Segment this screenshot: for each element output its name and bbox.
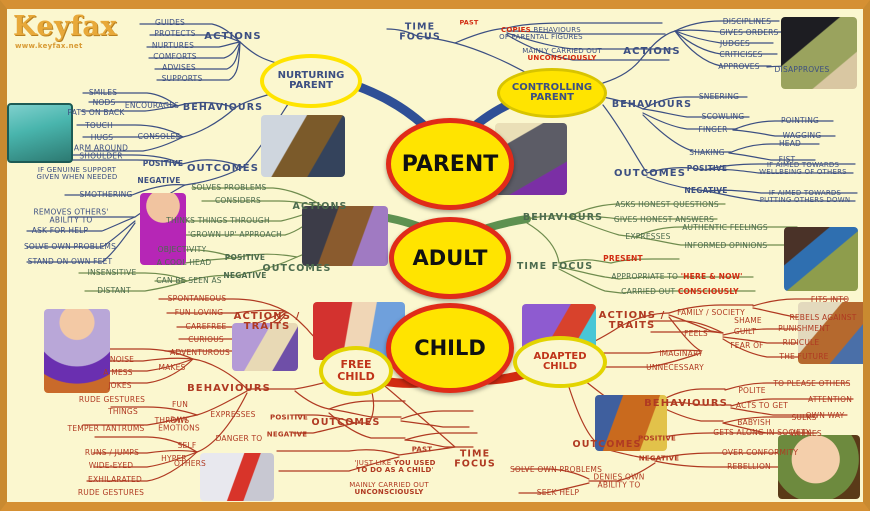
np-outcomes-positive: POSITIVE	[143, 160, 184, 168]
np-behaviour-hugs: HUGS	[91, 134, 114, 142]
adult-action-grown-up-approach: 'GROWN-UP' APPROACH	[188, 231, 282, 239]
adult-timefocus-here-now: APPROPRIATE TO 'HERE & NOW'	[611, 273, 742, 281]
illustration-family	[7, 103, 73, 163]
adult-actions-header: ACTIONS	[293, 202, 348, 212]
np-behaviour-consoles: CONSOLES	[138, 133, 181, 141]
ac-behaviour-acts-to-get: ACTS TO GET	[736, 402, 788, 410]
cp-behaviour-pointing: POINTING	[781, 117, 819, 125]
fc-behaviour-runs-jumps: RUNS / JUMPS	[85, 449, 139, 457]
adult-timefocus-present: PRESENT	[603, 255, 643, 263]
fc-behaviour-makes: MAKES	[158, 364, 185, 372]
core-node-child[interactable]: CHILD	[386, 303, 514, 393]
np-outcomes-negative: NEGATIVE	[137, 177, 180, 185]
adult-timefocus-header: TIME FOCUS	[517, 262, 593, 272]
adult-action-solves-problems: SOLVES PROBLEMS	[192, 184, 267, 192]
subnode-controlling-parent[interactable]: CONTROLLINGPARENT	[497, 68, 607, 118]
illustration-office-pair	[261, 115, 345, 177]
cp-timefocus-copies: COPIES BEHAVIOURSOF PARENTAL FIGURES	[499, 27, 583, 41]
adult-action-considers: CONSIDERS	[215, 197, 261, 205]
cp-action-criticises: CRITICISES	[719, 51, 762, 59]
subnode-nurturing-parent-label: NURTURINGPARENT	[278, 71, 345, 92]
fc-behaviour-expresses: EXPRESSES	[210, 411, 255, 419]
np-behaviour-pats-on-back: PATS ON BACK	[68, 109, 125, 117]
cp-behaviour-finger: FINGER	[698, 126, 727, 134]
fc-trait-adventurous: ADVENTUROUS	[170, 349, 230, 357]
fc-behaviour-others: OTHERS	[174, 460, 206, 468]
np-outcome-ask-for-help: ASK FOR HELP	[32, 227, 89, 235]
cp-outcome-wellbeing: IF AIMED TOWARDSWELLBEING OF OTHERS	[759, 162, 847, 176]
adult-outcome-objectivity: OBJECTIVITY	[158, 246, 207, 254]
adult-timefocus-consciously: CARRIED OUT CONSCIOUSLY	[621, 288, 739, 296]
adult-outcome-distant: DISTANT	[97, 287, 130, 295]
ac-trait-ridicule: RIDICULE	[783, 339, 820, 347]
ac-outcome-denies-own-ability: DENIES OWNABILITY TO	[593, 473, 644, 488]
np-behaviours-header: BEHAVIOURS	[183, 103, 263, 113]
cp-behaviour-head: HEAD	[779, 140, 801, 148]
illustration-man-surfboard	[200, 453, 274, 501]
ac-trait-rebels-against: REBELS AGAINST	[789, 314, 856, 322]
cp-timefocus-past: PAST	[459, 20, 478, 27]
np-actions-header: ACTIONS	[204, 32, 261, 42]
illustration-sulking-face	[778, 435, 860, 499]
adult-behaviour-informed-opinions: INFORMED OPINIONS	[685, 242, 768, 250]
illustration-woman-purple	[140, 193, 186, 265]
cp-outcomes-positive: POSITIVE	[687, 165, 728, 173]
ac-trait-fits-into: FITS INTO	[811, 296, 849, 304]
fc-behaviour-temper-tantrums: TEMPER TANTRUMS	[68, 425, 145, 433]
ac-trait-punishment: PUNISHMENT	[778, 325, 830, 333]
ac-outcomes-negative: NEGATIVE	[639, 455, 679, 462]
cp-outcomes-negative: NEGATIVE	[684, 187, 727, 195]
np-behaviour-nods: NODS	[93, 99, 116, 107]
illustration-father-son	[781, 17, 857, 89]
ac-behaviours-header: BEHAVIOURS	[644, 399, 728, 409]
fc-behaviour-exhilarated: EXHILARATED	[88, 476, 142, 484]
ac-outcome-seek-help: SEEK HELP	[537, 489, 579, 497]
np-outcome-stand-on-own-feet: STAND ON OWN FEET	[28, 258, 113, 266]
adult-outcomes-positive: POSITIVE	[225, 254, 266, 262]
ac-outcome-gets-along: GETS ALONG IN SOCIETY	[713, 429, 810, 437]
fc-actions-traits-header: ACTIONS /TRAITS	[234, 312, 301, 332]
ac-outcomes-header: OUTCOMES	[573, 440, 642, 450]
adult-behaviours-header: BEHAVIOURS	[523, 213, 603, 223]
fc-trait-fun-loving: FUN-LOVING	[175, 309, 224, 317]
cp-outcomes-header: OUTCOMES	[614, 169, 686, 179]
cp-timefocus-header: TIMEFOCUS	[399, 22, 441, 41]
cp-action-judges: JUDGES	[720, 40, 750, 48]
brand-url: www.keyfax.net	[15, 42, 83, 50]
ac-behaviour-to-please-others: TO PLEASE OTHERS	[773, 380, 850, 388]
cp-timefocus-unconsciously: MAINLY CARRIED OUTUNCONSCIOUSLY	[522, 48, 602, 62]
fc-behaviour-rude-gestures-2: RUDE GESTURES	[78, 489, 144, 497]
subnode-adapted-child-label: ADAPTEDCHILD	[533, 352, 586, 373]
fc-timefocus-unconsciously: MAINLY CARRIED OUTUNCONSCIOUSLY	[349, 482, 429, 496]
fc-trait-carefree: CAREFREE	[186, 323, 227, 331]
adult-action-thinks-things-through: THINKS THINGS THROUGH	[166, 217, 270, 225]
ac-behaviour-babyish: BABYISH	[737, 419, 771, 427]
ac-behaviour-sulks: SULKS	[791, 414, 816, 422]
subnode-adapted-child[interactable]: ADAPTEDCHILD	[513, 336, 607, 388]
subnode-controlling-parent-label: CONTROLLINGPARENT	[512, 83, 592, 104]
brand-logo: Keyfax	[13, 11, 117, 42]
ac-outcome-solve-own-problems: SOLVE OWN PROBLEMS	[510, 466, 602, 474]
ac-trait-unnecessary: UNNECESSARY	[646, 364, 704, 372]
fc-behaviour-fun: FUN	[172, 401, 188, 409]
adult-outcome-insensitive: INSENSITIVE	[88, 269, 137, 277]
core-node-adult[interactable]: ADULT	[389, 217, 511, 299]
fc-behaviour-things: THINGS	[108, 408, 138, 416]
ac-outcomes-positive: POSITIVE	[638, 435, 676, 442]
fc-behaviour-jokes: JOKES	[108, 382, 132, 390]
adult-outcomes-header: OUTCOMES	[263, 264, 332, 274]
ac-behaviour-attention: ATTENTION	[808, 396, 852, 404]
ac-trait-feels: FEELS	[684, 330, 708, 338]
fc-behaviour-danger-to: DANGER TO	[216, 435, 263, 443]
cp-action-disapproves: DISAPPROVES	[775, 66, 830, 74]
ac-trait-shame: SHAME	[734, 317, 762, 325]
cp-behaviours-header: BEHAVIOURS	[612, 100, 692, 110]
fc-outcomes-positive: POSITIVE	[270, 414, 308, 421]
ac-trait-imaginary: IMAGINARY	[659, 350, 703, 358]
subnode-free-child[interactable]: FREECHILD	[319, 346, 393, 396]
np-action-nurtures: NURTURES	[152, 42, 194, 50]
fc-behaviour-raw-emotions: RAWEMOTIONS	[158, 416, 200, 431]
np-action-protects: PROTECTS	[154, 30, 195, 38]
ac-outcome-over-conformity: OVER CONFORMITY	[722, 449, 798, 457]
np-behaviour-touch: TOUCH	[85, 122, 113, 130]
subnode-nurturing-parent[interactable]: NURTURINGPARENT	[260, 54, 362, 108]
np-behaviour-encourages: ENCOURAGES	[125, 102, 179, 110]
adult-behaviour-expresses: EXPRESSES	[625, 233, 670, 241]
illustration-woman-phone	[784, 227, 858, 291]
subnode-free-child-label: FREECHILD	[337, 359, 375, 382]
np-outcome-solve-own-problems: SOLVE OWN PROBLEMS	[24, 243, 116, 251]
cp-behaviour-sneering: SNEERING	[699, 93, 739, 101]
fc-timefocus-just-like: 'JUST LIKE YOU USEDTO DO AS A CHILD'	[354, 460, 435, 474]
fc-behaviours-header: BEHAVIOURS	[187, 384, 271, 394]
cp-behaviour-scowling: SCOWLING	[702, 113, 745, 121]
fc-timefocus-past: PAST	[412, 446, 433, 453]
cp-action-disciplines: DISCIPLINES	[723, 18, 771, 26]
np-outcome-genuine-support: IF GENUINE SUPPORTGIVEN WHEN NEEDED	[37, 167, 118, 181]
fc-behaviour-a-mess: A MESS	[103, 369, 132, 377]
ac-trait-fear-of: FEAR OF	[730, 342, 763, 350]
np-outcomes-header: OUTCOMES	[187, 164, 259, 174]
ac-trait-guilt: GUILT	[734, 328, 756, 336]
np-action-supports: SUPPORTS	[162, 75, 203, 83]
cp-action-gives-orders: GIVES ORDERS	[719, 29, 778, 37]
fc-behaviour-wide-eyed: WIDE-EYED	[89, 462, 133, 470]
fc-timefocus-header: TIMEFOCUS	[454, 449, 496, 468]
cp-behaviour-shaking: SHAKING	[689, 149, 724, 157]
adult-behaviour-asks-honest-questions: ASKS HONEST QUESTIONS	[615, 201, 719, 209]
mindmap-canvas: Keyfax www.keyfax.net PARENT ADULT CHILD…	[0, 0, 870, 511]
np-behaviour-arm-around-shoulder: ARM AROUNDSHOULDER	[74, 144, 128, 159]
illustration-desk-meeting	[302, 206, 388, 266]
adult-behaviour-authentic-feelings: AUTHENTIC FEELINGS	[682, 224, 768, 232]
ac-outcome-rebellion: REBELLION	[727, 463, 771, 471]
adult-outcome-cool-head: A COOL HEAD	[157, 259, 212, 267]
fc-behaviour-self: SELF	[178, 442, 197, 450]
ac-actions-traits-header: ACTIONS /TRAITS	[599, 311, 666, 331]
fc-outcomes-header: OUTCOMES	[312, 418, 381, 428]
adult-outcome-can-be-seen-as: CAN BE SEEN AS	[156, 277, 222, 285]
cp-actions-header: ACTIONS	[623, 47, 680, 57]
fc-behaviour-rude-gestures-1: RUDE GESTURES	[79, 396, 145, 404]
np-outcome-smothering: SMOTHERING	[80, 191, 133, 199]
cp-outcome-putting-down: IF AIMED TOWARDSPUTTING OTHERS DOWN	[760, 190, 851, 204]
core-node-parent[interactable]: PARENT	[386, 118, 514, 210]
cp-action-approves: APPROVES	[718, 63, 759, 71]
fc-behaviour-noise: NOISE	[110, 356, 134, 364]
np-action-comforts: COMFORTS	[153, 53, 196, 61]
ac-trait-the-future: THE FUTURE	[779, 353, 828, 361]
adult-outcomes-negative: NEGATIVE	[223, 272, 266, 280]
fc-outcomes-negative: NEGATIVE	[267, 431, 307, 438]
np-behaviour-smiles: SMILES	[89, 89, 117, 97]
np-action-advises: ADVISES	[162, 64, 196, 72]
np-outcome-removes-ability: REMOVES OTHERS'ABILITY TO	[33, 208, 108, 223]
np-action-guides: GUIDES	[155, 19, 185, 27]
fc-trait-curious: CURIOUS	[188, 336, 224, 344]
ac-behaviour-polite: POLITE	[738, 387, 765, 395]
illustration-traveller	[44, 309, 110, 393]
fc-trait-spontaneous: SPONTANEOUS	[168, 295, 227, 303]
